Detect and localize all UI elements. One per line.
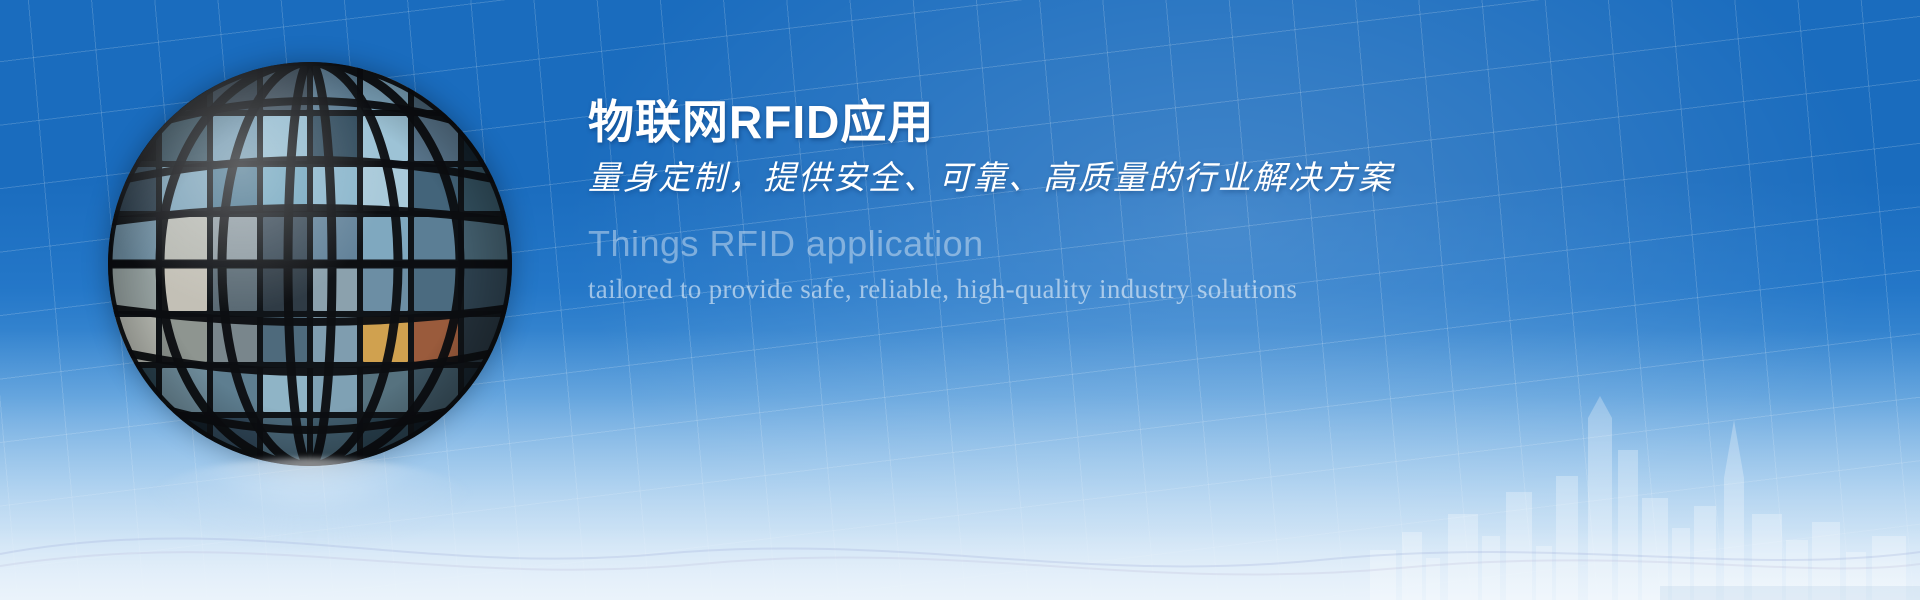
globe-tile xyxy=(263,368,307,412)
globe-tile xyxy=(112,267,156,311)
globe-tile xyxy=(464,66,508,110)
globe-tile xyxy=(363,217,407,261)
globe-tile xyxy=(313,116,357,160)
globe-tile xyxy=(414,418,458,462)
globe-tile xyxy=(363,116,407,160)
globe-tile xyxy=(263,217,307,261)
banner-copy: 物联网RFID应用 量身定制，提供安全、可靠、高质量的行业解决方案 Things… xyxy=(588,96,1768,307)
globe-tile xyxy=(313,418,357,462)
globe-tile xyxy=(464,217,508,261)
globe-tile xyxy=(414,167,458,211)
globe-tile xyxy=(464,317,508,361)
page-title: 物联网RFID应用 xyxy=(588,96,1768,149)
globe-tile xyxy=(213,217,257,261)
globe-tile xyxy=(464,418,508,462)
globe-tile xyxy=(464,267,508,311)
globe-tile xyxy=(363,418,407,462)
globe-tile xyxy=(112,116,156,160)
globe-tile xyxy=(112,418,156,462)
english-title: Things RFID application xyxy=(588,222,1768,265)
globe-tile xyxy=(414,368,458,412)
globe-tile xyxy=(363,368,407,412)
globe-tile xyxy=(112,217,156,261)
globe-tile xyxy=(112,167,156,211)
globe-tile xyxy=(162,418,206,462)
globe-tile xyxy=(263,116,307,160)
globe-tile xyxy=(363,66,407,110)
globe-tile xyxy=(414,217,458,261)
globe-tile xyxy=(162,368,206,412)
globe-tile xyxy=(263,418,307,462)
globe-tile xyxy=(414,267,458,311)
hero-banner: 物联网RFID应用 量身定制，提供安全、可靠、高质量的行业解决方案 Things… xyxy=(0,0,1920,600)
globe-tile xyxy=(464,116,508,160)
globe-tile xyxy=(213,116,257,160)
globe-tile xyxy=(263,167,307,211)
globe-tile xyxy=(162,116,206,160)
city-skyline-icon xyxy=(1360,300,1920,600)
globe-tile xyxy=(363,317,407,361)
globe-tile xyxy=(313,267,357,311)
globe-tile xyxy=(162,267,206,311)
globe-tile xyxy=(464,368,508,412)
globe-tile xyxy=(414,116,458,160)
globe-tile xyxy=(263,66,307,110)
page-subtitle: 量身定制，提供安全、可靠、高质量的行业解决方案 xyxy=(588,159,1768,200)
globe-tile xyxy=(162,167,206,211)
globe-tile xyxy=(162,217,206,261)
globe-tile xyxy=(263,317,307,361)
globe-tile xyxy=(313,317,357,361)
globe-tile xyxy=(112,368,156,412)
globe-tile xyxy=(363,167,407,211)
globe-tile xyxy=(213,368,257,412)
globe-tile xyxy=(213,267,257,311)
globe-tile xyxy=(313,217,357,261)
globe-sphere xyxy=(108,62,512,466)
globe-tile xyxy=(313,66,357,110)
globe-tile xyxy=(313,167,357,211)
globe-tile xyxy=(112,66,156,110)
globe-tile xyxy=(112,317,156,361)
globe-tile xyxy=(213,167,257,211)
globe-tile xyxy=(464,167,508,211)
globe-tile xyxy=(363,267,407,311)
globe-tile xyxy=(162,66,206,110)
globe-tile xyxy=(313,368,357,412)
globe-tile xyxy=(213,418,257,462)
iot-globe xyxy=(108,62,512,466)
globe-tile xyxy=(213,66,257,110)
english-subtitle: tailored to provide safe, reliable, high… xyxy=(588,273,1768,307)
globe-tile xyxy=(162,317,206,361)
globe-mosaic-tiles xyxy=(108,62,512,466)
globe-tile xyxy=(263,267,307,311)
globe-tile xyxy=(414,317,458,361)
globe-reflection xyxy=(145,458,475,548)
globe-tile xyxy=(414,66,458,110)
globe-tile xyxy=(213,317,257,361)
